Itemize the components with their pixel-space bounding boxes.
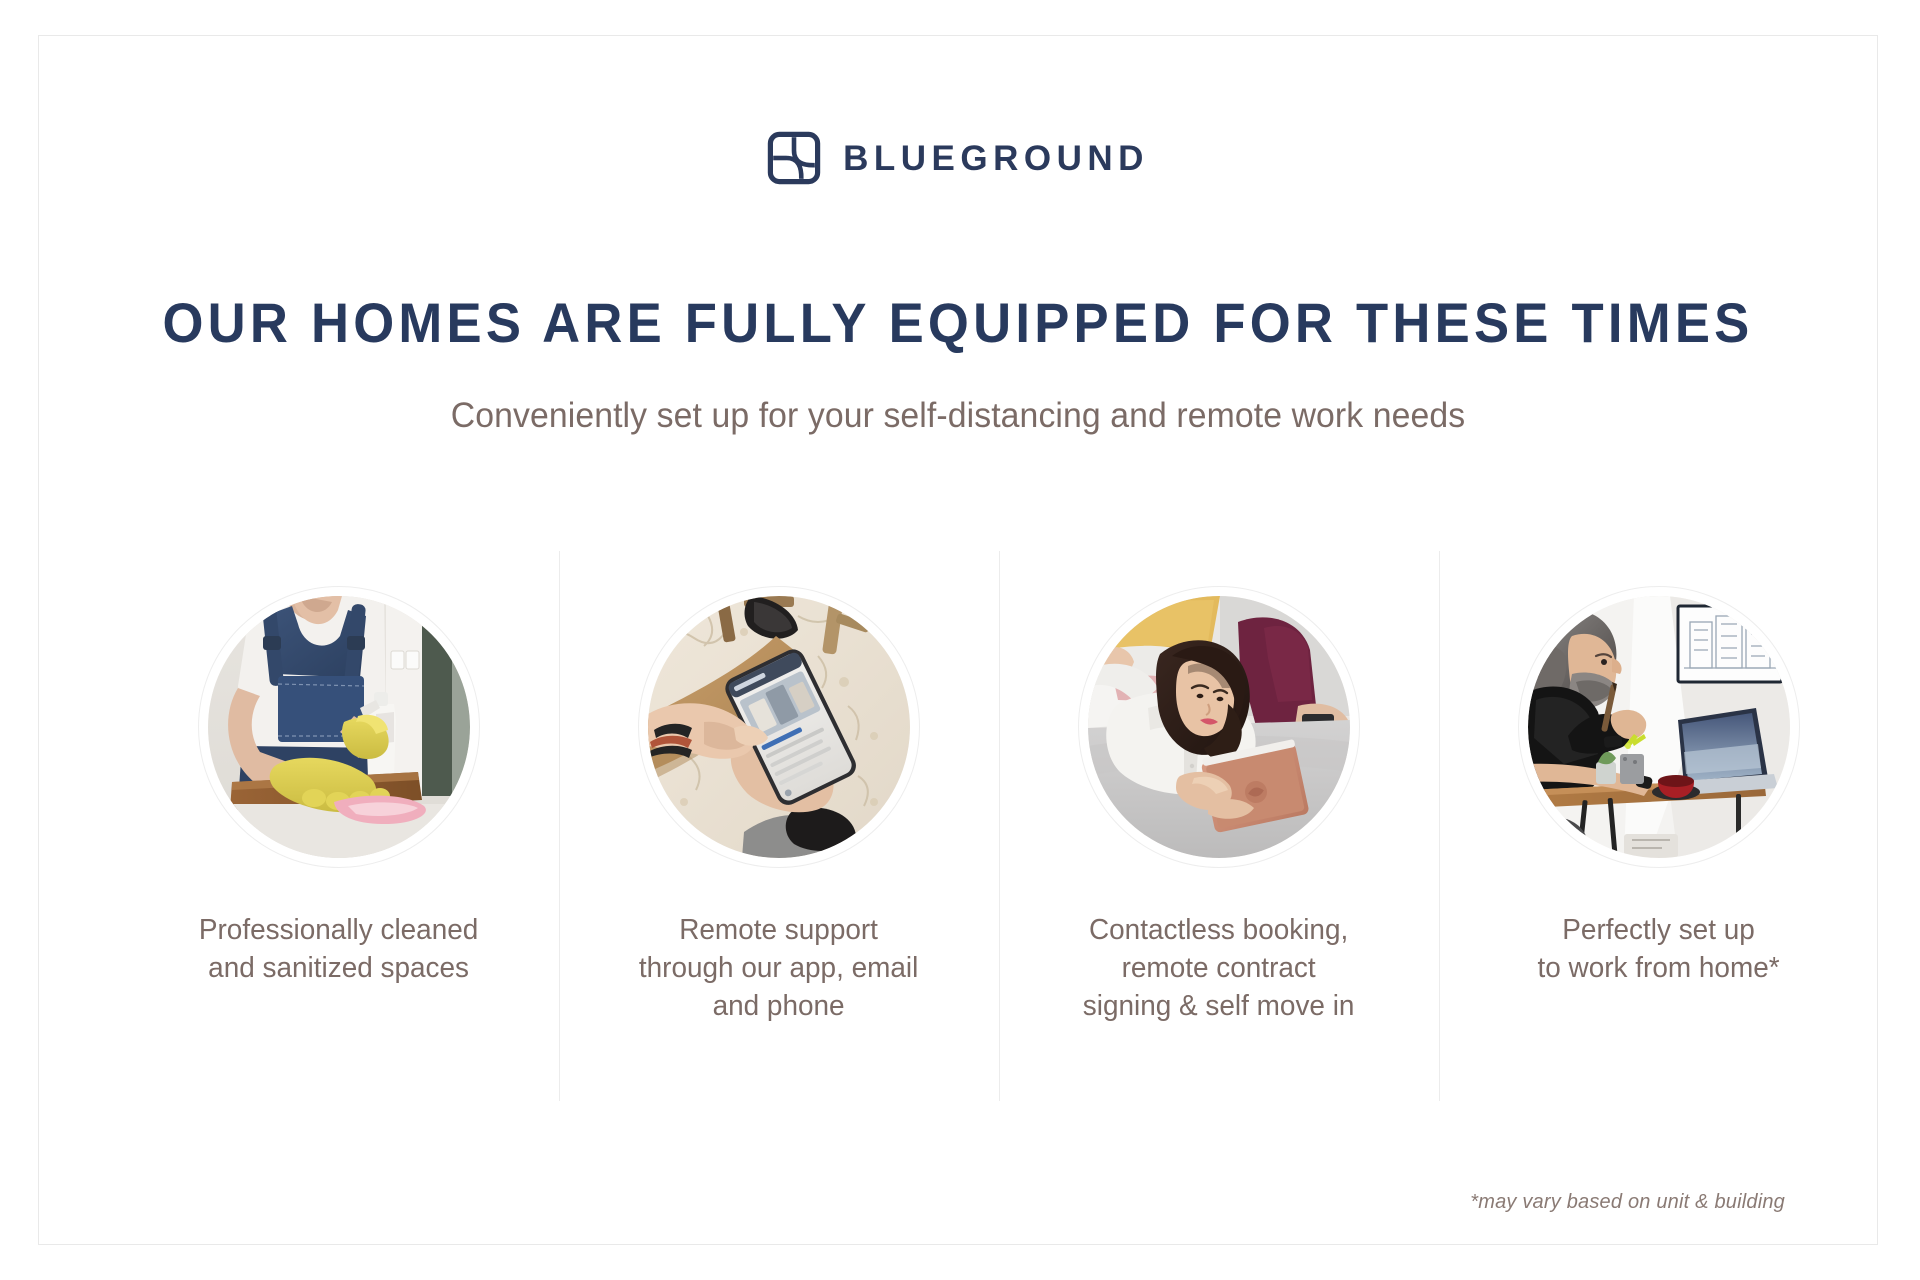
feature-caption: Remote support through our app, email an… [639, 912, 918, 1026]
caption-line-2: to work from home* [1538, 950, 1780, 988]
caption-line-3: and phone [639, 988, 918, 1026]
photo-ring [638, 586, 920, 868]
feature-card-cleaning: Professionally cleaned and sanitized spa… [119, 551, 559, 1106]
photo-ring [1078, 586, 1360, 868]
caption-line-1: Remote support [639, 912, 918, 950]
feature-card-row: Professionally cleaned and sanitized spa… [119, 551, 1879, 1106]
poster-frame: BLUEGROUND OUR HOMES ARE FULLY EQUIPPED … [38, 35, 1878, 1245]
poster-page: BLUEGROUND OUR HOMES ARE FULLY EQUIPPED … [0, 0, 1920, 1280]
feature-card-remote-support: Remote support through our app, email an… [559, 551, 999, 1106]
footnote-disclaimer: *may vary based on unit & building [1470, 1191, 1785, 1214]
caption-line-1: Professionally cleaned [199, 912, 478, 950]
caption-line-3: signing & self move in [1083, 988, 1355, 1026]
photo-woman-on-bed-with-tablet [1088, 596, 1350, 858]
caption-line-2: through our app, email [639, 950, 918, 988]
photo-hands-using-phone-app [648, 596, 910, 858]
caption-line-1: Contactless booking, [1083, 912, 1355, 950]
photo-cleaning-person-with-gloves [208, 596, 470, 858]
caption-line-2: and sanitized spaces [199, 950, 478, 988]
feature-caption: Professionally cleaned and sanitized spa… [199, 912, 478, 988]
feature-caption: Contactless booking, remote contract sig… [1083, 912, 1355, 1026]
caption-line-2: remote contract [1083, 950, 1355, 988]
page-headline: OUR HOMES ARE FULLY EQUIPPED FOR THESE T… [94, 294, 1822, 353]
photo-ring [198, 586, 480, 868]
feature-card-work-from-home: Perfectly set up to work from home* [1439, 551, 1879, 1106]
brand-wordmark: BLUEGROUND [843, 141, 1149, 176]
page-subheadline: Conveniently set up for your self-distan… [71, 396, 1845, 436]
brand-lockup: BLUEGROUND [39, 131, 1877, 185]
photo-ring [1518, 586, 1800, 868]
feature-caption: Perfectly set up to work from home* [1538, 912, 1780, 988]
blueground-square-mark-icon [767, 131, 821, 185]
feature-card-contactless-booking: Contactless booking, remote contract sig… [999, 551, 1439, 1106]
caption-line-1: Perfectly set up [1538, 912, 1780, 950]
photo-man-working-from-home-desk [1528, 596, 1790, 858]
